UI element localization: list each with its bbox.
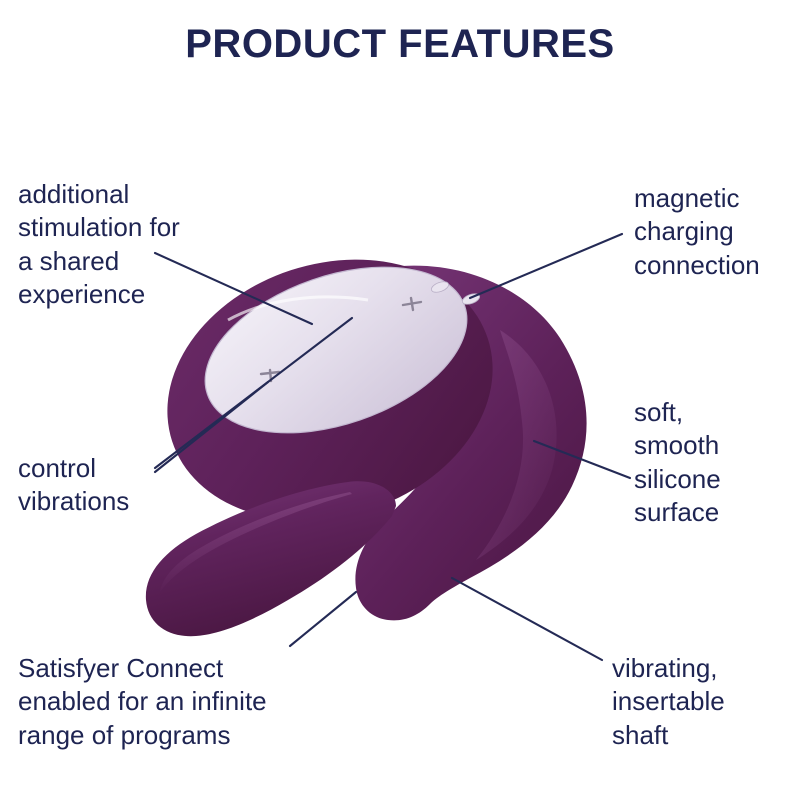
feature-label-soft-silicone: soft, smooth silicone surface	[634, 396, 799, 529]
leader-line-magnetic	[470, 234, 622, 298]
feature-label-vibrating-shaft: vibrating, insertable shaft	[612, 652, 797, 752]
feature-label-satisfyer-connect: Satisfyer Connect enabled for an infinit…	[18, 652, 348, 752]
product-features-diagram: PRODUCT FEATURES	[0, 0, 800, 800]
leader-line-connect	[290, 592, 356, 646]
feature-label-control-vibrations: control vibrations	[18, 452, 238, 519]
feature-label-magnetic-charging: magnetic charging connection	[634, 182, 800, 282]
feature-label-additional-stimulation: additional stimulation for a shared expe…	[18, 178, 258, 311]
leader-line-vibrating	[452, 578, 602, 660]
